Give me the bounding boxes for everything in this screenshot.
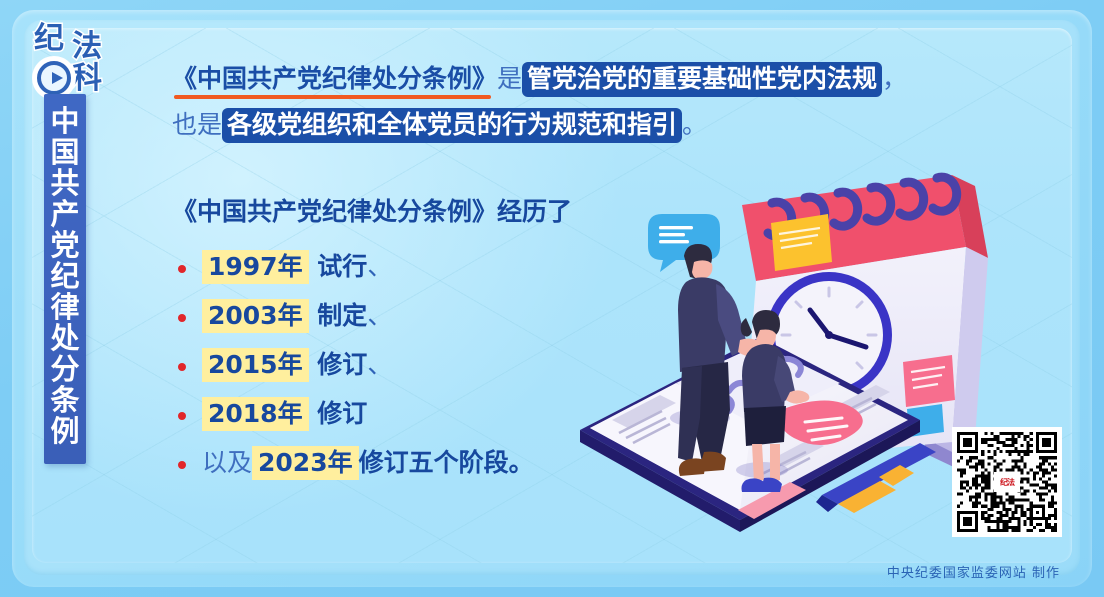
logo-char-3: 科 [72,64,102,94]
final-prefix: 以及 [202,448,252,477]
paragraph-2: 《中国共产党纪律处分条例》经历了 [172,192,892,232]
qr-center-badge: 纪法 [994,472,1020,492]
banner-char: 例 [50,416,79,447]
stage-year: 2015年 [202,348,309,382]
stage-item-final: 以及2023年修订五个阶段。 [172,438,892,487]
connector-2: 也是 [172,110,222,139]
banner-char: 律 [50,292,79,323]
period-1: 。 [682,110,707,139]
final-suffix: 五个阶段。 [409,448,534,477]
banner-char: 党 [50,230,79,261]
stage-item: 1997年 试行、 [172,242,892,291]
logo-char-2: 法 [72,32,102,62]
qr-code[interactable]: 纪法 [952,427,1062,537]
highlight-chip-1: 管党治党的重要基础性党内法规 [522,62,882,97]
vertical-banner: 中国共产党纪律处分条例 [44,94,86,464]
stage-year: 1997年 [202,250,309,284]
banner-char: 共 [50,168,79,199]
stage-separator: 、 [367,301,392,330]
stage-year: 2018年 [202,397,309,431]
stage-action: 修订 [309,350,368,379]
stage-item: 2003年 制定、 [172,291,892,340]
logo-mark: 纪 法 科 [28,22,132,104]
stage-action: 制定 [309,301,368,330]
stage-action: 试行 [309,252,368,281]
paragraph-2-lead: 经历了 [497,197,572,226]
banner-char: 分 [50,354,79,385]
comma-1: ， [882,64,907,93]
regulation-title-1: 《中国共产党纪律处分条例》 [172,64,497,93]
banner-char: 国 [50,137,79,168]
stage-item: 2018年 修订 [172,389,892,438]
banner-char: 产 [50,199,79,230]
banner-char: 中 [50,106,79,137]
brand-block: 纪 法 科 中国共产党纪律处分条例 [28,22,134,442]
banner-char: 条 [50,385,79,416]
paragraph-1: 《中国共产党纪律处分条例》是管党治党的重要基础性党内法规， 也是各级党组织和全体… [172,56,892,148]
banner-char: 处 [50,323,79,354]
final-action: 修订 [359,448,409,477]
stage-action: 修订 [309,399,368,428]
footer-credit: 中央纪委国家监委网站 制作 [887,562,1060,581]
connector-1: 是 [497,64,522,93]
logo-char-1: 纪 [34,24,64,54]
stage-separator: 、 [367,252,392,281]
banner-char: 纪 [50,261,79,292]
stage-list: 1997年 试行、2003年 制定、2015年 修订、2018年 修订以及202… [172,242,892,487]
final-year: 2023年 [252,446,359,480]
highlight-chip-2: 各级党组织和全体党员的行为规范和指引 [222,108,682,143]
main-copy: 《中国共产党纪律处分条例》是管党治党的重要基础性党内法规， 也是各级党组织和全体… [172,56,892,487]
regulation-title-2: 《中国共产党纪律处分条例》 [172,197,497,226]
stage-separator: 、 [367,350,392,379]
stage-item: 2015年 修订、 [172,340,892,389]
stage-year: 2003年 [202,299,309,333]
